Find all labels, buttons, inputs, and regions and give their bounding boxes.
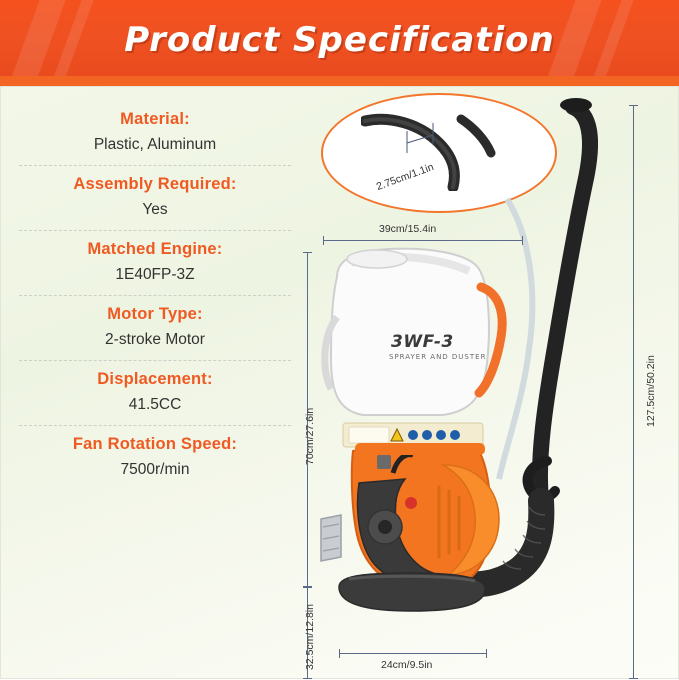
spec-label: Assembly Required: (19, 175, 291, 194)
product-model-sublabel: SPRAYER AND DUSTER (389, 353, 486, 361)
spec-label: Motor Type: (19, 305, 291, 324)
product-model-label: 3WF-3 (391, 332, 454, 352)
dim-label-top-width: 39cm/15.4in (379, 223, 436, 235)
spec-value: 41.5CC (19, 396, 291, 414)
banner-bottom-bar (0, 76, 679, 86)
spec-value: 1E40FP-3Z (19, 266, 291, 284)
dim-tick (629, 105, 638, 106)
list-item: Matched Engine: 1E40FP-3Z (19, 231, 291, 296)
dim-label-total-height: 127.5cm/50.2in (645, 355, 657, 427)
dim-line-total-height (633, 105, 634, 679)
dim-tick (323, 236, 324, 245)
list-item: Fan Rotation Speed: 7500r/min (19, 426, 291, 490)
sprayer-drawing (293, 87, 679, 680)
spec-label: Matched Engine: (19, 240, 291, 259)
spec-value: Yes (19, 201, 291, 219)
dim-line-top-width (323, 240, 523, 241)
dim-tick (486, 649, 487, 658)
spec-value: 7500r/min (19, 461, 291, 479)
dim-tick (339, 649, 340, 658)
dim-tick (522, 236, 523, 245)
dim-line-base-width (339, 653, 487, 654)
spec-value: 2-stroke Motor (19, 331, 291, 349)
spec-label: Material: (19, 110, 291, 129)
list-item: Motor Type: 2-stroke Motor (19, 296, 291, 361)
list-item: Assembly Required: Yes (19, 166, 291, 231)
spec-list: Material: Plastic, Aluminum Assembly Req… (19, 101, 291, 490)
dim-label-tank-height: 70cm/27.6in (304, 408, 316, 465)
spec-label: Displacement: (19, 370, 291, 389)
spec-label: Fan Rotation Speed: (19, 435, 291, 454)
dim-tick (303, 587, 312, 588)
content-area: Material: Plastic, Aluminum Assembly Req… (0, 86, 679, 679)
spec-value: Plastic, Aluminum (19, 136, 291, 154)
page-title: Product Specification (0, 20, 679, 60)
header-banner: Product Specification (0, 0, 679, 86)
list-item: Material: Plastic, Aluminum (19, 101, 291, 166)
product-illustration: 2.75cm/1.1in (293, 87, 679, 680)
dim-label-base-height: 32.5cm/12.8in (304, 604, 316, 670)
dim-tick (303, 252, 312, 253)
product-specification-page: Product Specification Material: Plastic,… (0, 0, 679, 679)
dim-label-base-width: 24cm/9.5in (381, 659, 432, 671)
list-item: Displacement: 41.5CC (19, 361, 291, 426)
